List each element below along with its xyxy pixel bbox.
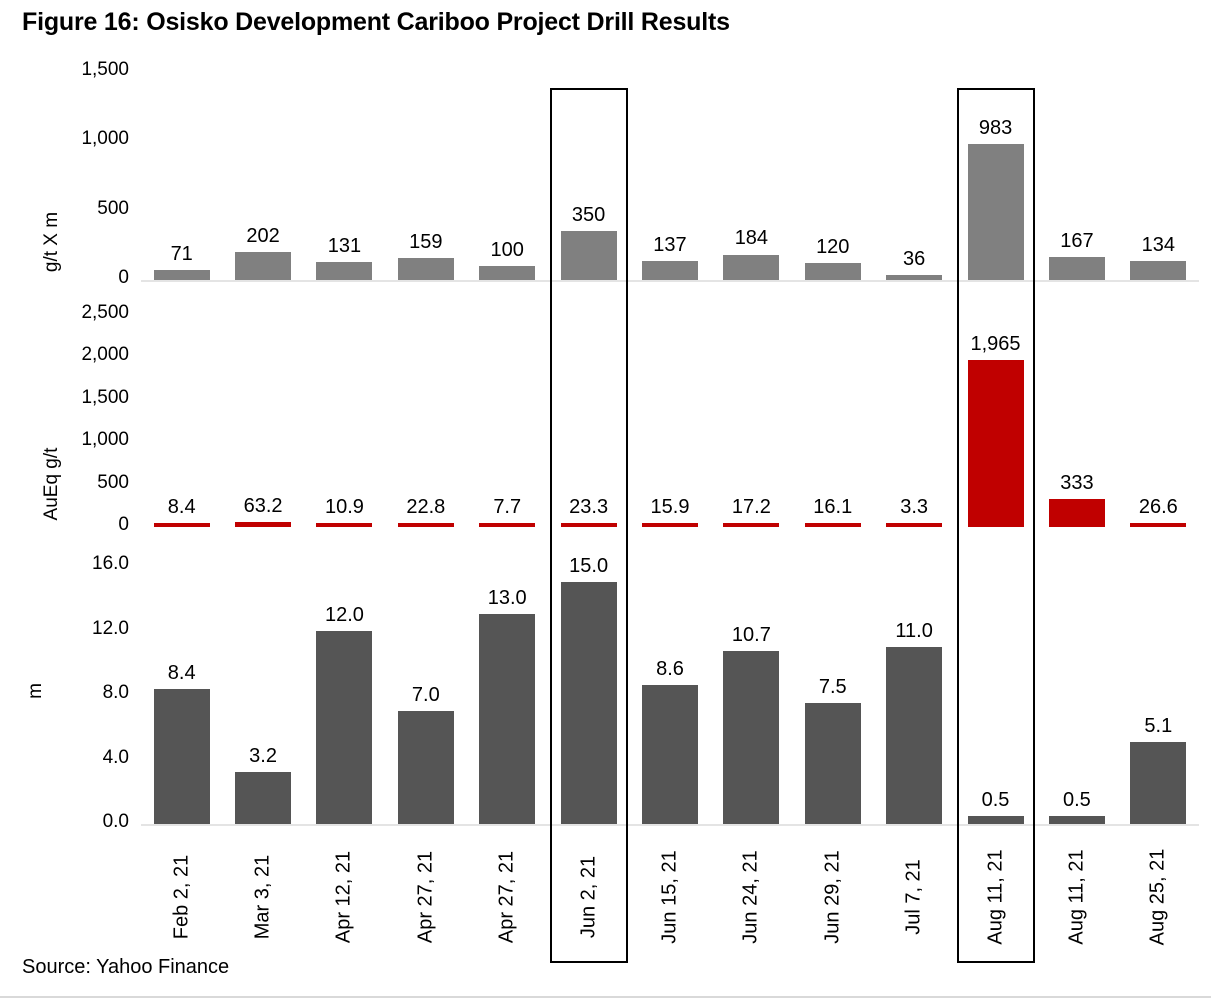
bar[interactable] [886, 523, 942, 527]
bar[interactable] [316, 631, 372, 825]
y-tick-label: 0 [37, 514, 129, 536]
bar-value-label: 10.7 [732, 624, 771, 647]
x-axis-label: Mar 3, 21 [252, 855, 275, 939]
bar-slot: 333 [1036, 305, 1117, 533]
y-tick-label: 12.0 [37, 618, 129, 640]
bar[interactable] [154, 523, 210, 527]
bar[interactable] [886, 275, 942, 280]
bar[interactable] [154, 689, 210, 824]
bar-slot: 71 [141, 60, 222, 286]
x-axis-label: Jun 24, 21 [740, 850, 763, 943]
bar-slot: 8.6 [629, 555, 710, 830]
bar-value-label: 7.5 [819, 676, 847, 699]
bar-slot: 7.0 [385, 555, 466, 830]
y-tick-label: 1,500 [37, 387, 129, 409]
bottom-divider [0, 996, 1211, 998]
bar-value-label: 8.4 [168, 662, 196, 685]
bar-value-label: 8.4 [168, 496, 196, 519]
bar-slot: 3.2 [222, 555, 303, 830]
y-tick-label: 8.0 [37, 682, 129, 704]
x-axis-label-slot: Jun 29, 21 [792, 832, 873, 962]
x-axis-label: Jul 7, 21 [903, 859, 926, 935]
bar[interactable] [723, 651, 779, 824]
bar-value-label: 23.3 [569, 496, 608, 519]
y-tick-label: 16.0 [37, 553, 129, 575]
x-axis-label-slot: Jul 7, 21 [873, 832, 954, 962]
source-note: Source: Yahoo Finance [22, 956, 229, 979]
bar-value-label: 11.0 [895, 620, 932, 643]
y-tick-label: 2,000 [37, 344, 129, 366]
bar-slot: 15.0 [548, 555, 629, 830]
bar-slot: 983 [955, 60, 1036, 286]
bar-value-label: 0.5 [1063, 789, 1091, 812]
bar-slot: 137 [629, 60, 710, 286]
x-axis-label-slot: Aug 11, 21 [1036, 832, 1117, 962]
bar[interactable] [1049, 816, 1105, 824]
x-axis-label-slot: Aug 11, 21 [955, 832, 1036, 962]
bar-value-label: 184 [735, 227, 768, 250]
bar-slot: 10.9 [304, 305, 385, 533]
x-axis-label: Jun 15, 21 [658, 850, 681, 943]
figure-title: Figure 16: Osisko Development Cariboo Pr… [22, 8, 730, 37]
bar-slot: 11.0 [873, 555, 954, 830]
y-tick-label: 4.0 [37, 747, 129, 769]
x-axis-label-slot: Apr 27, 21 [467, 832, 548, 962]
bar[interactable] [805, 703, 861, 824]
bar[interactable] [235, 772, 291, 824]
bar-slot: 16.1 [792, 305, 873, 533]
x-axis-labels: Feb 2, 21Mar 3, 21Apr 12, 21Apr 27, 21Ap… [141, 832, 1199, 962]
bar-value-label: 0.5 [982, 789, 1010, 812]
bar[interactable] [805, 263, 861, 280]
y-tick-label: 1,500 [37, 59, 129, 81]
bar-slot: 22.8 [385, 305, 466, 533]
bar-value-label: 3.3 [900, 496, 928, 519]
bar[interactable] [479, 614, 535, 824]
bar-value-label: 26.6 [1139, 496, 1178, 519]
x-axis-label-slot: Feb 2, 21 [141, 832, 222, 962]
bar[interactable] [154, 270, 210, 280]
bar-slot: 63.2 [222, 305, 303, 533]
bar-slot: 10.7 [711, 555, 792, 830]
bar-value-label: 63.2 [244, 495, 283, 518]
plot-area-aueq-g-t: 8.463.210.922.87.723.315.917.216.13.31,9… [141, 305, 1199, 533]
bar-value-label: 7.0 [412, 684, 440, 707]
bar[interactable] [561, 231, 617, 280]
bar[interactable] [235, 522, 291, 527]
bar-value-label: 131 [328, 235, 361, 258]
x-axis-label: Feb 2, 21 [170, 855, 193, 940]
bar-slot: 0.5 [1036, 555, 1117, 830]
bar-slot: 8.4 [141, 555, 222, 830]
bar[interactable] [1049, 499, 1105, 527]
y-tick-label: 500 [37, 198, 129, 220]
bar-slot: 15.9 [629, 305, 710, 533]
bar-slot: 8.4 [141, 305, 222, 533]
x-axis-label: Aug 11, 21 [984, 849, 1007, 944]
bar-slot: 100 [467, 60, 548, 286]
bar[interactable] [1130, 523, 1186, 527]
x-axis-label-slot: Aug 25, 21 [1118, 832, 1199, 962]
panel-gt-x-m: g/t X m 71202131159100350137184120369831… [0, 60, 1211, 286]
x-axis-label: Aug 25, 21 [1147, 849, 1170, 946]
bar-slot: 17.2 [711, 305, 792, 533]
bar-value-label: 15.9 [651, 496, 690, 519]
bar-value-label: 137 [653, 234, 686, 257]
bar-slot: 23.3 [548, 305, 629, 533]
bar[interactable] [642, 261, 698, 280]
bar[interactable] [1130, 742, 1186, 824]
bar-value-label: 167 [1060, 230, 1093, 253]
y-tick-label: 0 [37, 267, 129, 289]
bar-slot: 7.5 [792, 555, 873, 830]
bar-slot: 26.6 [1118, 305, 1199, 533]
bar[interactable] [316, 262, 372, 280]
bar[interactable] [561, 582, 617, 824]
y-tick-label: 1,000 [37, 429, 129, 451]
bar[interactable] [723, 523, 779, 527]
bar-value-label: 36 [903, 248, 925, 271]
bar-value-label: 1,965 [971, 333, 1021, 356]
x-axis-label-slot: Jun 24, 21 [711, 832, 792, 962]
bar-value-label: 16.1 [813, 496, 852, 519]
x-axis-label-slot: Jun 15, 21 [629, 832, 710, 962]
bar-value-label: 7.7 [493, 496, 521, 519]
bar[interactable] [316, 523, 372, 527]
x-axis-label: Jun 2, 21 [577, 856, 600, 938]
bar-value-label: 202 [246, 225, 279, 248]
bar-value-label: 159 [409, 231, 442, 254]
bar-value-label: 100 [491, 239, 524, 262]
y-tick-label: 500 [37, 472, 129, 494]
bar[interactable] [968, 360, 1024, 527]
bar-value-label: 134 [1142, 234, 1175, 257]
figure-container: Figure 16: Osisko Development Cariboo Pr… [0, 0, 1211, 1000]
bar-value-label: 71 [171, 243, 193, 266]
bar-slot: 7.7 [467, 305, 548, 533]
y-tick-label: 2,500 [37, 302, 129, 324]
bar-slot: 350 [548, 60, 629, 286]
plot-area-gt-x-m: 7120213115910035013718412036983167134 [141, 60, 1199, 286]
bar[interactable] [968, 144, 1024, 280]
panel-aueq-g-t: AuEq g/t 8.463.210.922.87.723.315.917.21… [0, 305, 1211, 533]
bar-slot: 184 [711, 60, 792, 286]
bar[interactable] [968, 816, 1024, 824]
bar-value-label: 12.0 [325, 604, 364, 627]
bar[interactable] [805, 523, 861, 527]
bar-value-label: 8.6 [656, 658, 684, 681]
bar-value-label: 17.2 [732, 496, 771, 519]
bar[interactable] [561, 523, 617, 527]
bar[interactable] [398, 258, 454, 280]
bar-value-label: 13.0 [488, 587, 527, 610]
bar-slot: 13.0 [467, 555, 548, 830]
bar[interactable] [1130, 261, 1186, 280]
bar-slot: 12.0 [304, 555, 385, 830]
bar[interactable] [398, 711, 454, 824]
bar[interactable] [479, 523, 535, 527]
y-tick-label: 1,000 [37, 128, 129, 150]
bar-slot: 5.1 [1118, 555, 1199, 830]
bar[interactable] [642, 523, 698, 527]
bar-value-label: 5.1 [1144, 715, 1172, 738]
bar-value-label: 983 [979, 117, 1012, 140]
x-axis-label: Apr 27, 21 [414, 851, 437, 943]
bar[interactable] [398, 523, 454, 527]
bar-value-label: 3.2 [249, 745, 277, 768]
x-axis-label-slot: Apr 12, 21 [304, 832, 385, 962]
bar[interactable] [886, 647, 942, 824]
bar-slot: 0.5 [955, 555, 1036, 830]
bar-value-label: 120 [816, 236, 849, 259]
bar[interactable] [479, 266, 535, 280]
x-axis-label-slot: Jun 2, 21 [548, 832, 629, 962]
bar-slot: 36 [873, 60, 954, 286]
bar-value-label: 350 [572, 204, 605, 227]
x-axis-label: Apr 27, 21 [496, 851, 519, 943]
bar-slot: 134 [1118, 60, 1199, 286]
bar-value-label: 22.8 [406, 496, 445, 519]
plot-area-metres: 8.43.212.07.013.015.08.610.77.511.00.50.… [141, 555, 1199, 830]
bar-value-label: 333 [1060, 472, 1093, 495]
x-axis-label: Aug 11, 21 [1065, 849, 1088, 944]
bar-slot: 131 [304, 60, 385, 286]
x-axis-label-slot: Mar 3, 21 [222, 832, 303, 962]
bar[interactable] [723, 255, 779, 281]
bar-value-label: 10.9 [325, 496, 364, 519]
bar[interactable] [1049, 257, 1105, 280]
bar-slot: 167 [1036, 60, 1117, 286]
bar[interactable] [235, 252, 291, 280]
bar-slot: 3.3 [873, 305, 954, 533]
bar-slot: 202 [222, 60, 303, 286]
bar-value-label: 15.0 [569, 555, 608, 578]
bar-slot: 159 [385, 60, 466, 286]
y-tick-label: 0.0 [37, 811, 129, 833]
bar-slot: 120 [792, 60, 873, 286]
bar-slot: 1,965 [955, 305, 1036, 533]
bar[interactable] [642, 685, 698, 824]
panel-metres: m 8.43.212.07.013.015.08.610.77.511.00.5… [0, 555, 1211, 830]
x-axis-label: Apr 12, 21 [333, 851, 356, 943]
x-axis-label: Jun 29, 21 [821, 850, 844, 943]
x-axis-label-slot: Apr 27, 21 [385, 832, 466, 962]
